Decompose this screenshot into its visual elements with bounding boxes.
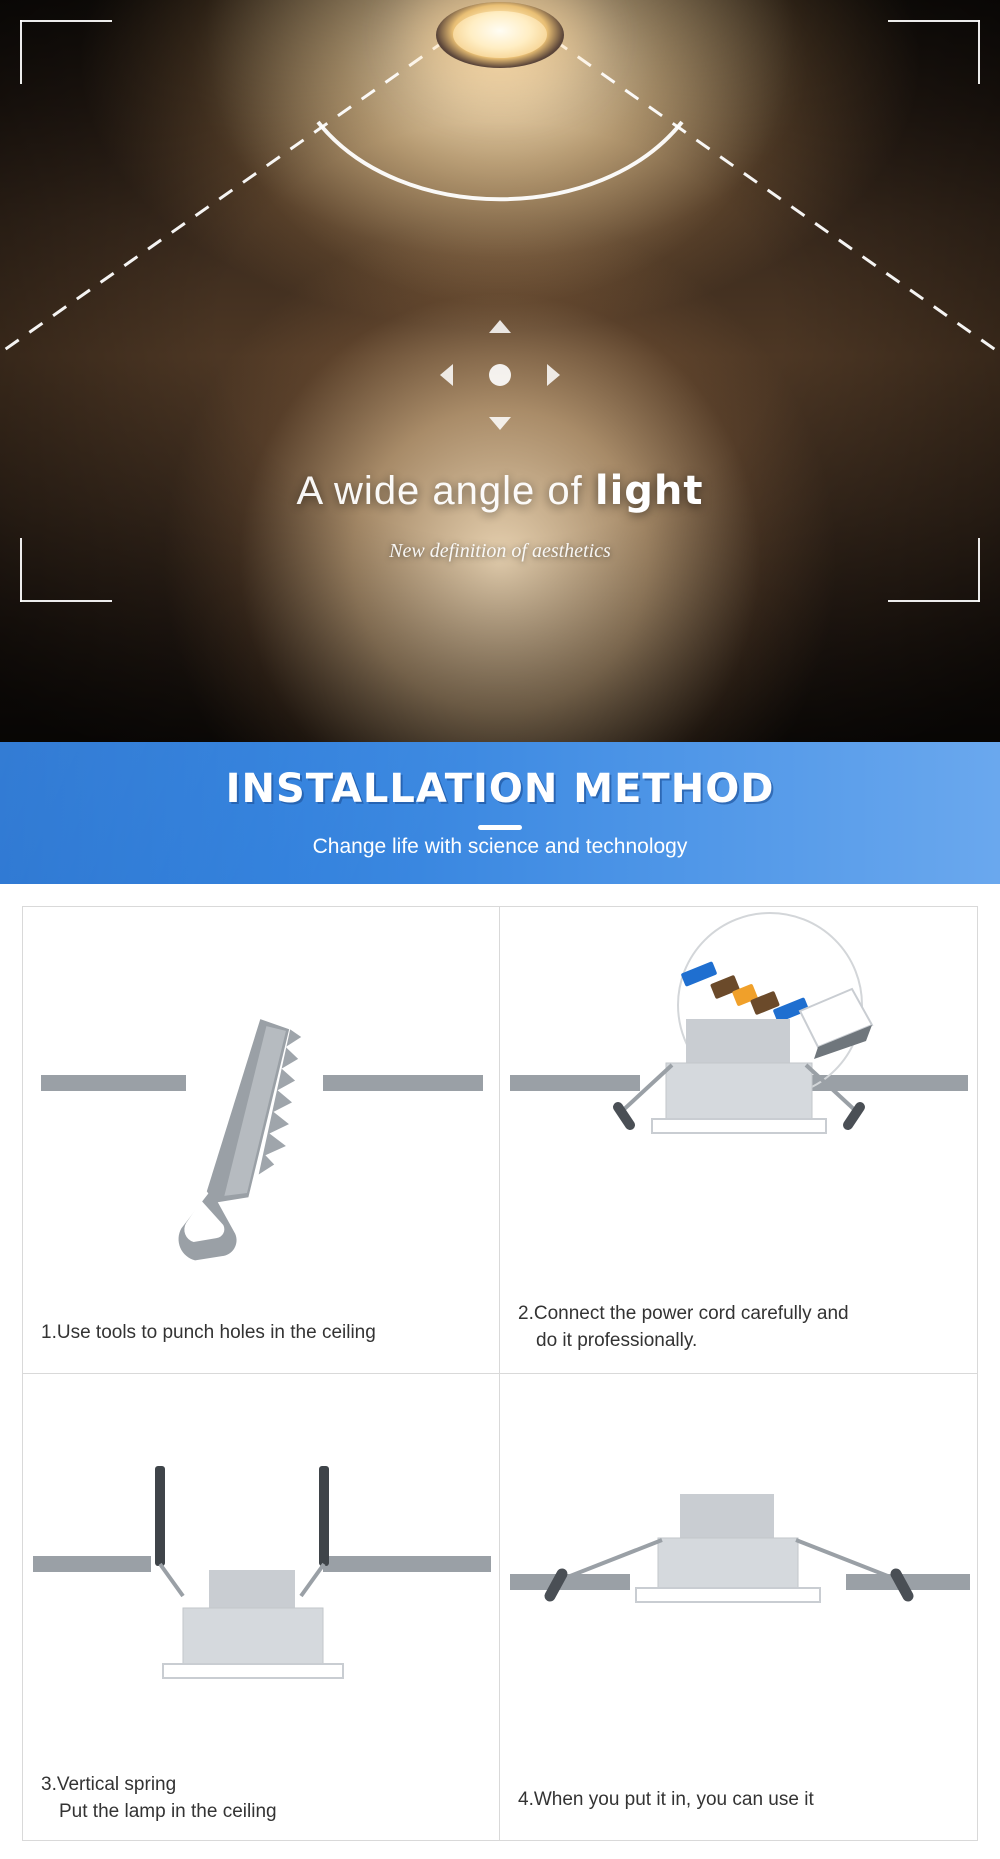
downlight-springs-vertical-icon <box>23 1374 500 1744</box>
installation-banner: INSTALLATION METHOD Change life with sci… <box>0 742 1000 884</box>
step-caption-1: 1.Use tools to punch holes in the ceilin… <box>41 1320 485 1347</box>
step-caption-2: 2.Connect the power cord carefully and d… <box>518 1301 963 1355</box>
hero-title-thin: A wide angle of <box>296 469 594 513</box>
step-caption-2-line1: 2.Connect the power cord carefully and <box>518 1303 849 1324</box>
step-caption-3-line1: 3.Vertical spring <box>41 1774 176 1795</box>
arrow-up-icon <box>489 320 511 333</box>
step-caption-2-line2: do it professionally. <box>518 1328 963 1355</box>
installation-steps-section: 1.Use tools to punch holes in the ceilin… <box>0 884 1000 1859</box>
step-caption-3-line2: Put the lamp in the ceiling <box>41 1799 485 1826</box>
arrow-right-icon <box>547 364 560 386</box>
handsaw-cutting-ceiling-icon <box>23 907 500 1277</box>
ceiling-downlight-icon <box>436 2 564 68</box>
hero-section: A wide angle of light New definition of … <box>0 0 1000 742</box>
corner-bracket-top-left <box>20 20 112 84</box>
step-caption-1-line1: 1.Use tools to punch holes in the ceilin… <box>41 1322 376 1343</box>
banner-title: INSTALLATION METHOD <box>0 766 1000 812</box>
corner-bracket-top-right <box>888 20 980 84</box>
step-cell-1: 1.Use tools to punch holes in the ceilin… <box>23 907 500 1374</box>
product-detail-page: A wide angle of light New definition of … <box>0 0 1000 1859</box>
step-caption-4: 4.When you put it in, you can use it <box>518 1787 963 1814</box>
banner-divider <box>478 825 522 830</box>
step-caption-4-line1: 4.When you put it in, you can use it <box>518 1789 814 1810</box>
banner-subtitle: Change life with science and technology <box>0 835 1000 859</box>
steps-grid: 1.Use tools to punch holes in the ceilin… <box>22 906 978 1841</box>
arrow-down-icon <box>489 417 511 430</box>
four-way-arrows-icon <box>440 320 560 430</box>
wire-connector-and-downlight-icon <box>500 907 977 1277</box>
step-cell-2: 2.Connect the power cord carefully and d… <box>500 907 977 1374</box>
downlight-installed-flush-icon <box>500 1374 977 1744</box>
step-cell-4: 4.When you put it in, you can use it <box>500 1374 977 1841</box>
hero-title: A wide angle of light <box>0 468 1000 514</box>
center-dot-icon <box>489 364 511 386</box>
step-caption-3: 3.Vertical spring Put the lamp in the ce… <box>41 1772 485 1826</box>
downlight-lens <box>453 11 547 58</box>
step-cell-3: 3.Vertical spring Put the lamp in the ce… <box>23 1374 500 1841</box>
arrow-left-icon <box>440 364 453 386</box>
hero-title-bold: light <box>595 468 704 514</box>
hero-subtitle: New definition of aesthetics <box>0 540 1000 563</box>
